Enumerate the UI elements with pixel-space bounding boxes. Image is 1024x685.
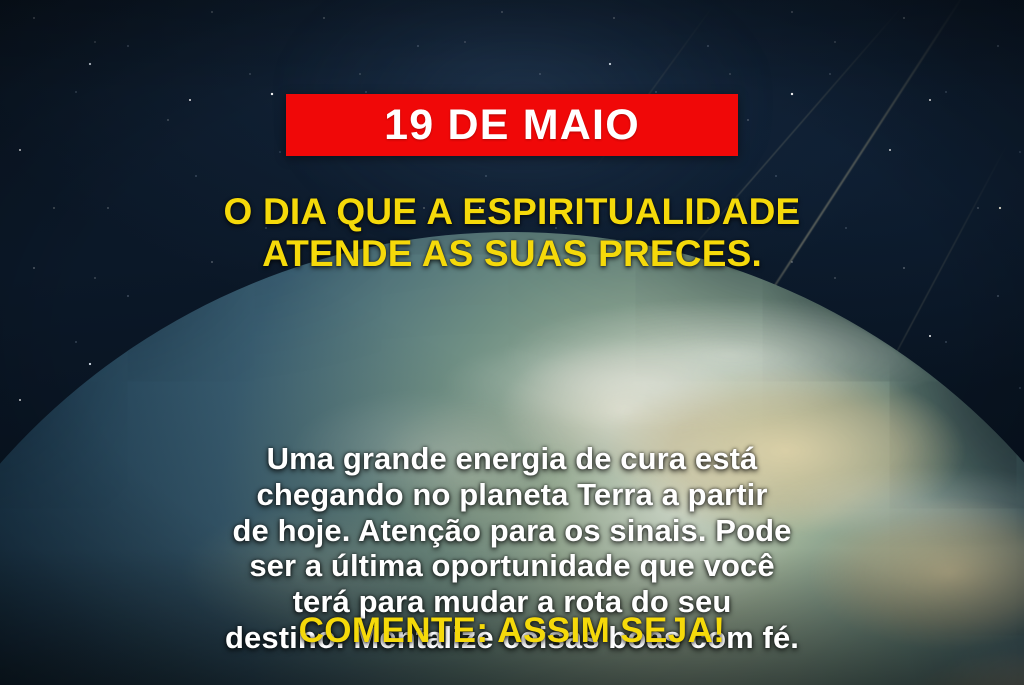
body-line-3: de hoje. Atenção para os sinais. Pode [37,513,987,549]
call-to-action-text: COMENTE: ASSIM SEJA! [62,612,962,651]
page-title: O DIA QUE A ESPIRITUALIDADE ATENDE AS SU… [22,191,1002,275]
poster-content: 19 DE MAIO O DIA QUE A ESPIRITUALIDADE A… [0,0,1024,685]
date-banner: 19 DE MAIO [286,94,738,156]
headline-line-2: ATENDE AS SUAS PRECES. [22,233,1002,275]
date-banner-text: 19 DE MAIO [384,104,640,147]
body-line-4: ser a última oportunidade que você [37,548,987,584]
headline-line-1: O DIA QUE A ESPIRITUALIDADE [224,191,801,232]
body-line-2: chegando no planeta Terra a partir [37,477,987,513]
poster-canvas: 19 DE MAIO O DIA QUE A ESPIRITUALIDADE A… [0,0,1024,685]
body-line-1: Uma grande energia de cura está [37,441,987,477]
